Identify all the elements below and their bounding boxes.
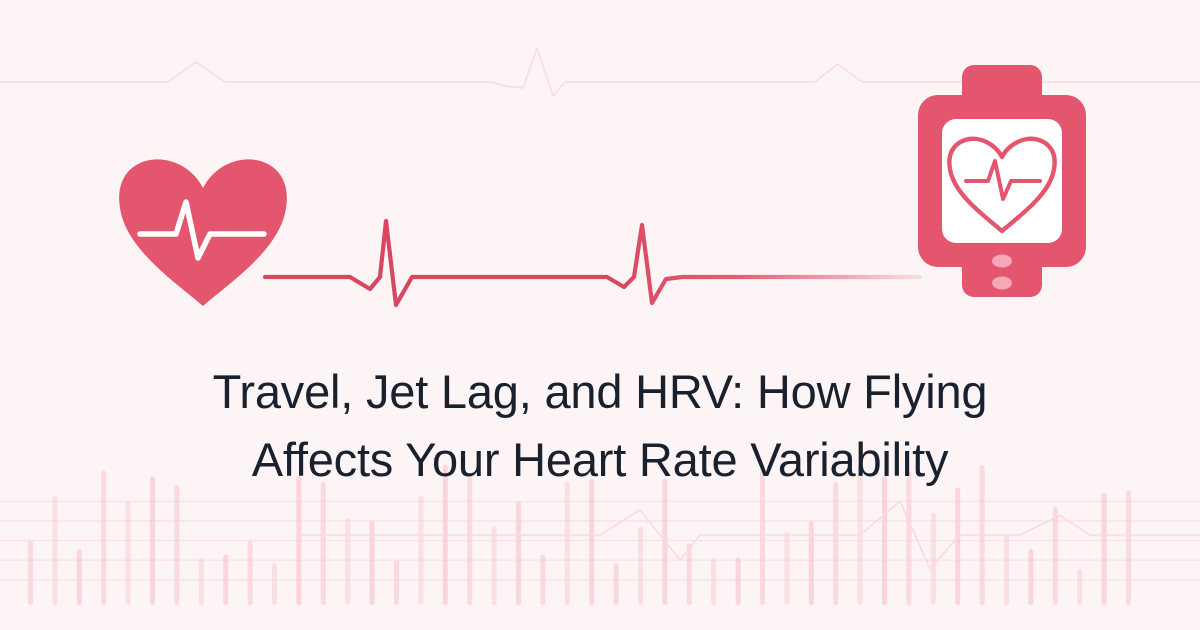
chart-bar [931,513,936,605]
chart-bars [28,465,1131,605]
chart-bar [28,541,33,605]
chart-bar [1004,535,1009,605]
chart-bar [1126,490,1131,605]
watch-icon-svg [918,65,1086,297]
chart-bar [516,501,521,605]
chart-bar [711,557,716,605]
chart-bar [1028,549,1033,605]
heart-icon-svg [118,158,288,306]
watch-band-bottom [962,241,1042,297]
chart-bar [150,476,155,605]
chart-bar [77,549,82,605]
top-ecg-svg [0,0,1200,630]
chart-bar [296,476,301,605]
chart-bar [345,518,350,605]
background-bar-chart [0,0,1200,630]
chart-bar [980,465,985,605]
chart-bar [858,465,863,605]
page-title-line-2: Affects Your Heart Rate Variability [0,426,1200,494]
chart-bar [101,471,106,605]
page-title: Travel, Jet Lag, and HRV: How Flying Aff… [0,358,1200,494]
chart-bar [223,555,228,605]
top-ecg-decoration [0,0,1200,630]
chart-bar [882,476,887,605]
chart-bar [370,521,375,605]
chart-bar [687,543,692,605]
chart-bar [174,485,179,605]
chart-bar [809,521,814,605]
watch-band-top [962,65,1042,121]
chart-bar [638,527,643,605]
chart-bar [1077,569,1082,605]
chart-bar [760,471,765,605]
heart-pulse-line [140,202,264,258]
smartwatch-heart-rate-icon [918,65,1086,297]
heart-with-pulse-icon [118,158,288,306]
watch-case [918,95,1086,267]
chart-bar [394,560,399,605]
watch-face-heart-outline [949,139,1054,231]
pulse-line-svg [262,205,922,325]
chart-bar [199,557,204,605]
title-layer: Travel, Jet Lag, and HRV: How Flying Aff… [0,0,1200,630]
hero-row [0,55,1200,305]
chart-bar [540,555,545,605]
chart-bar [662,479,667,605]
chart-bar [52,496,57,605]
chart-bar [467,473,472,605]
chart-bar [906,471,911,605]
chart-bar [1102,493,1107,605]
chart-bar [833,482,838,605]
chart-bar [589,479,594,605]
pulse-line-path [265,221,920,305]
chart-bar [321,482,326,605]
chart-bar [1053,507,1058,605]
chart-bar [736,557,741,605]
chart-bar [272,563,277,605]
watch-button-lower [992,277,1012,290]
chart-bar [492,527,497,605]
chart-bar [443,465,448,605]
page-title-line-1: Travel, Jet Lag, and HRV: How Flying [0,358,1200,426]
chart-bar [614,563,619,605]
chart-bar [784,532,789,605]
cover-image: Travel, Jet Lag, and HRV: How Flying Aff… [0,0,1200,630]
watch-face-pulse-line [966,161,1040,199]
bar-chart-svg [0,0,1200,630]
chart-bar [565,482,570,605]
chart-bar [955,487,960,605]
watch-screen [942,119,1062,243]
top-ecg-path [0,48,1200,96]
chart-bar [418,496,423,605]
watch-button-upper [992,255,1012,268]
chart-ecg-overlay-line [300,501,1200,568]
ecg-pulse-line-icon [262,205,922,325]
hero-graphics [0,0,1200,630]
chart-gridlines [0,501,1200,579]
heart-shape [119,159,287,306]
chart-bar [248,541,253,605]
chart-bar [126,501,131,605]
